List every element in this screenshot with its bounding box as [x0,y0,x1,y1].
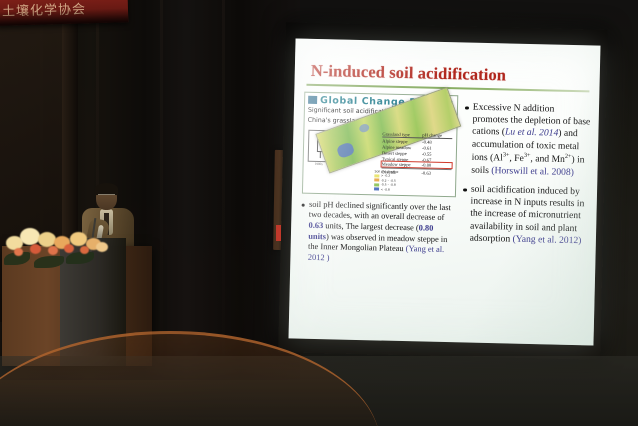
bullet-dot-icon [465,106,469,110]
bullet-right1-text-3: , Fe [509,153,524,164]
boxplot-xlabel-1: 1980s [315,161,323,165]
table-cell-value: -0.55 [422,151,450,157]
table-cell-type: Overall [381,169,421,175]
table-cell-value: -0.63 [421,170,449,176]
table-header-value: pH change [422,132,450,138]
ph-change-table: Grassland type pH change Alpine steppe -… [381,131,452,176]
bullet-right2-citation: (Yang et al. 2012) [512,234,581,247]
lecture-hall-photo: 土壤化学协会 N-indu [0,0,638,426]
bullet-dot-icon [302,204,305,207]
legend-label-3: < -0.8 [381,187,390,191]
bullet-right-1: Excessive N addition promotes the deplet… [463,101,591,180]
slide-title: N-induced soil acidification [311,61,592,88]
venue-banner: 土壤化学协会 [0,0,128,26]
bullet-left-value-1: 0.63 [308,221,323,230]
slide-left-column: Global Change Biology Significant soil a… [300,91,458,267]
bullet-right1-citation-2: (Horswill et al. 2008) [491,165,574,178]
journal-logo-icon [308,96,317,104]
journal-figure-box: Global Change Biology Significant soil a… [302,91,458,197]
floral-arrangement [0,222,120,274]
table-cell-value: -0.48 [422,139,450,145]
journal-figure: 1980s 2000s Soil pH change > -0.2 -0.2 – [306,127,453,192]
bullet-left-text-2: units, The largest decrease ( [323,221,419,232]
eyeglasses-icon [98,194,115,199]
slide-right-column: Excessive N addition promotes the deplet… [461,95,591,270]
bullet-dot-icon [463,188,467,192]
table-cell-value: -0.80 [422,163,450,169]
red-marker-strip [276,225,281,241]
bullet-left-text-1: soil pH declined significantly over the … [309,199,451,222]
table-header-type: Grassland type [382,131,422,137]
bullet-left-1: soil pH declined significantly over the … [300,199,455,267]
bullet-right1-citation-1: Lu et al. 2014 [505,127,559,139]
bullet-right1-text-4: , and Mn [530,154,565,166]
table-cell-value: -0.67 [422,157,450,163]
table-cell-value: -0.61 [422,145,450,151]
projection-screen: N-induced soil acidification Global Chan… [289,38,601,345]
presentation-slide: N-induced soil acidification Global Chan… [289,38,601,345]
bullet-right-2: soil acidification induced by increase i… [462,183,589,248]
